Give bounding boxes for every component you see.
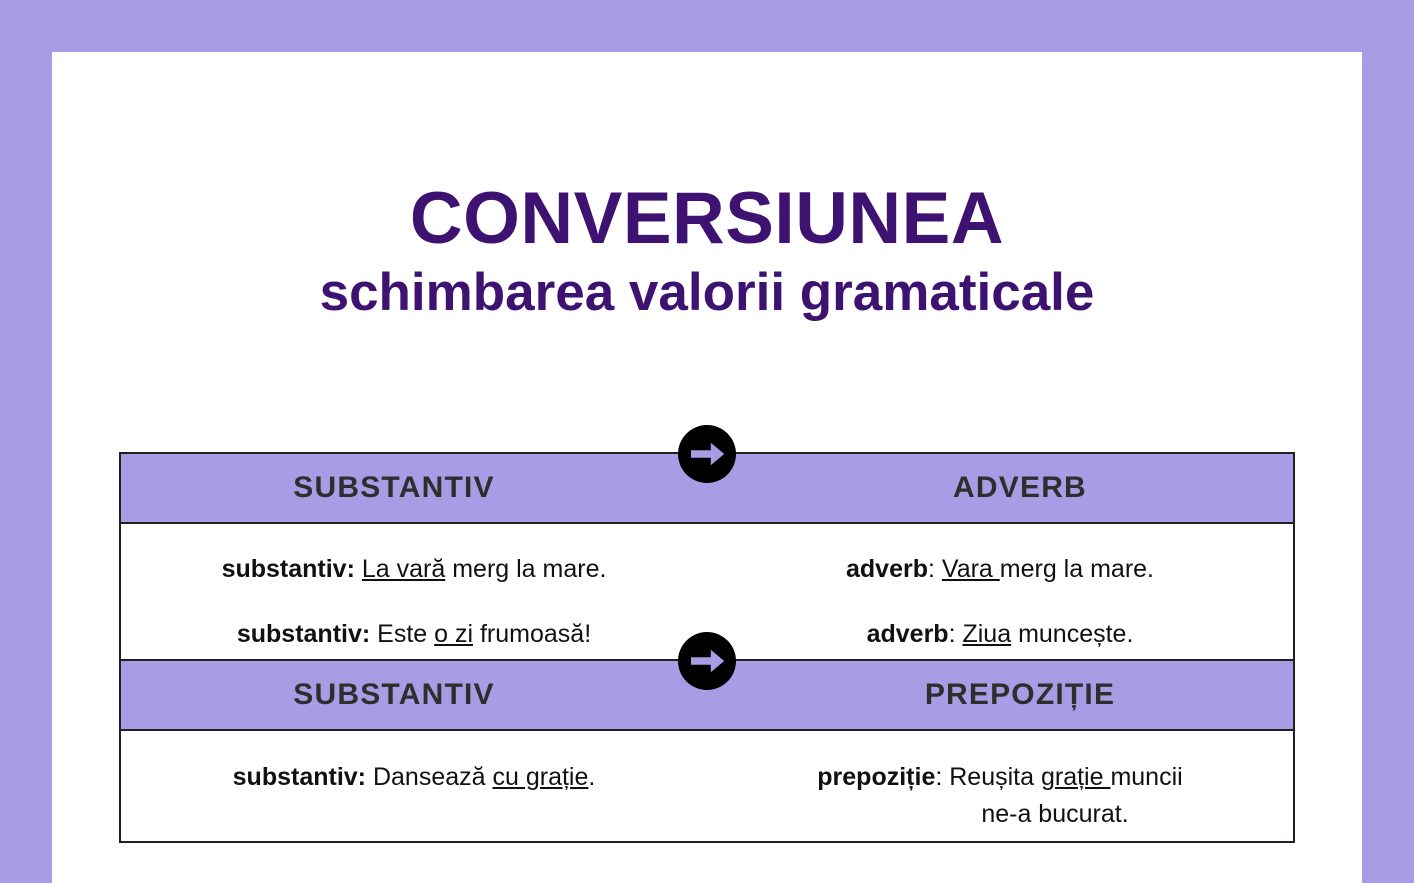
- header-cell-target-1: ADVERB: [707, 453, 1294, 523]
- example-text-underlined: cu grație: [492, 763, 588, 791]
- page-subtitle: schimbarea valorii gramaticale: [52, 265, 1362, 321]
- example-text-second-line: ne-a bucurat.: [707, 798, 1293, 831]
- pos-label: adverb: [846, 555, 928, 583]
- example-text-after: muncii: [1110, 763, 1182, 791]
- arrow-right-circle-icon: [678, 425, 736, 483]
- title-block: CONVERSIUNEA schimbarea valorii gramatic…: [52, 182, 1362, 321]
- table-header-row-substantiv-adverb: SUBSTANTIV ADVERB: [120, 453, 1294, 523]
- header-cell-source-1: SUBSTANTIV: [120, 453, 707, 523]
- example-text-before: :: [928, 555, 942, 583]
- pos-label: substantiv:: [233, 763, 366, 791]
- example-cell-left-1: substantiv: La vară merg la mare. substa…: [120, 523, 707, 660]
- header-cell-source-2: SUBSTANTIV: [120, 660, 707, 730]
- table-row-examples-2: substantiv: Dansează cu grație. prepoziț…: [120, 730, 1294, 842]
- example-text-before: : Reușita: [935, 763, 1041, 791]
- table-header-row-substantiv-prepozitie: SUBSTANTIV PREPOZIȚIE: [120, 660, 1294, 730]
- pos-label: adverb: [867, 620, 949, 648]
- example-text-after: merg la mare.: [445, 555, 606, 583]
- example-text-underlined: Vara: [942, 555, 1000, 583]
- example-text-underlined: La vară: [362, 555, 445, 583]
- example-text-underlined: Ziua: [962, 620, 1011, 648]
- header-cell-target-2: PREPOZIȚIE: [707, 660, 1294, 730]
- example-line: substantiv: Dansează cu grație.: [121, 761, 707, 794]
- example-text-underlined: grație: [1041, 763, 1110, 791]
- example-text-before: [355, 555, 362, 583]
- example-line: substantiv: Este o zi frumoasă!: [121, 618, 707, 651]
- example-text-before: :: [949, 620, 963, 648]
- example-text-after: frumoasă!: [473, 620, 591, 648]
- example-text-before: Dansează: [366, 763, 492, 791]
- pos-label: substantiv:: [222, 555, 355, 583]
- arrow-right-circle-icon: [678, 632, 736, 690]
- pos-label: prepoziție: [817, 763, 935, 791]
- example-text-before: Este: [370, 620, 434, 648]
- conversion-table: SUBSTANTIV ADVERB substantiv: La vară me…: [119, 452, 1295, 843]
- example-text-after: merg la mare.: [1000, 555, 1154, 583]
- example-line: adverb: Ziua muncește.: [707, 618, 1293, 651]
- example-cell-left-2: substantiv: Dansează cu grație.: [120, 730, 707, 842]
- pos-label: substantiv:: [237, 620, 370, 648]
- example-line: substantiv: La vară merg la mare.: [121, 553, 707, 586]
- example-text-underlined: o zi: [434, 620, 473, 648]
- example-cell-right-1: adverb: Vara merg la mare. adverb: Ziua …: [707, 523, 1294, 660]
- example-text-after: muncește.: [1011, 620, 1133, 648]
- example-cell-right-2: prepoziție: Reușita grație muncii ne-a b…: [707, 730, 1294, 842]
- slide-card: CONVERSIUNEA schimbarea valorii gramatic…: [52, 52, 1362, 883]
- example-line: prepoziție: Reușita grație muncii ne-a b…: [707, 761, 1293, 831]
- page-title: CONVERSIUNEA: [52, 182, 1362, 255]
- example-line: adverb: Vara merg la mare.: [707, 553, 1293, 586]
- example-text-after: .: [588, 763, 595, 791]
